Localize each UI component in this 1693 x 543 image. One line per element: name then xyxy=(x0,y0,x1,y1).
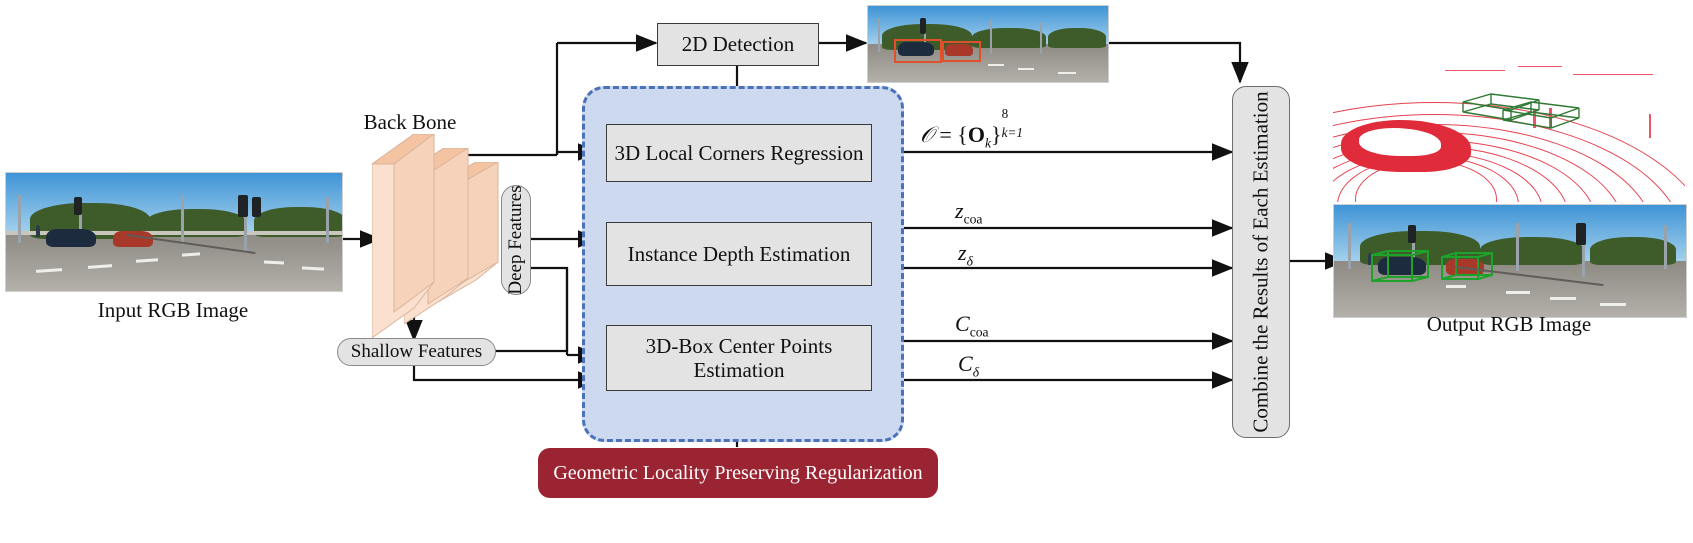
node-3d-box-center-points-estimation[interactable]: 3D-Box Center Points Estimation xyxy=(606,325,872,391)
lane-dash-1 xyxy=(1506,291,1530,294)
node-geometric-locality-preserving-regularization[interactable]: Geometric Locality Preserving Regulariza… xyxy=(538,448,938,498)
edge-label-c-delta: Cδ xyxy=(958,351,979,380)
traffic-light-right-2 xyxy=(252,197,261,217)
pole-1 xyxy=(878,18,880,52)
shallow-features-label: Shallow Features xyxy=(351,341,482,363)
node-combine-results[interactable]: Combine the Results of Each Estimation xyxy=(1232,86,1290,438)
car-red xyxy=(113,231,153,247)
node-regularization-label: Geometric Locality Preserving Regulariza… xyxy=(553,462,922,485)
traffic-light-right xyxy=(238,195,248,217)
treeline-right xyxy=(1048,28,1106,48)
pole-4 xyxy=(1040,22,1042,54)
edge-label-z-coa-sub: coa xyxy=(964,211,983,226)
edge-label-c-coa-var: C xyxy=(955,311,970,336)
car-dark xyxy=(46,229,96,247)
edge-label-corners-eq: = { xyxy=(939,122,967,147)
treeline-mid xyxy=(972,28,1046,48)
pole-3 xyxy=(990,20,992,54)
pole-3 xyxy=(1516,223,1519,271)
output-image-caption: Output RGB Image xyxy=(1333,312,1685,337)
node-instance-depth-estimation[interactable]: Instance Depth Estimation xyxy=(606,222,872,286)
deep-features-pill: Deep Features xyxy=(501,185,531,295)
lane-dash-3 xyxy=(1600,303,1626,306)
node-2d-detection-label: 2D Detection xyxy=(682,32,795,56)
edge-label-z-coa-var: z xyxy=(955,198,964,223)
edge-label-corners-script: 𝒪 xyxy=(920,123,934,148)
edge-label-c-coa-sub: coa xyxy=(970,324,989,339)
backbone-label: Back Bone xyxy=(330,110,490,135)
edge-label-corners-close: } xyxy=(991,122,1002,147)
edge-label-corners-limits: 8k=1 xyxy=(1002,123,1023,146)
node-3d-box-center-points-estimation-label: 3D-Box Center Points Estimation xyxy=(607,334,871,382)
pole-1 xyxy=(18,195,21,243)
detection-2d-thumbnail xyxy=(867,5,1109,83)
edge-label-c-delta-var: C xyxy=(958,351,973,376)
input-image-caption: Input RGB Image xyxy=(5,298,341,323)
deep-features-label: Deep Features xyxy=(505,185,527,294)
lane-dash-1 xyxy=(988,64,1004,66)
lane-dash-2 xyxy=(1550,297,1576,300)
traffic-light-left xyxy=(74,197,82,215)
node-combine-results-label: Combine the Results of Each Estimation xyxy=(1249,91,1274,432)
lidar-speck-3 xyxy=(1573,74,1653,75)
traffic-light-right xyxy=(1576,223,1586,245)
traffic-light-left xyxy=(1408,225,1416,243)
lane-dash-3 xyxy=(1058,72,1076,74)
node-instance-depth-estimation-label: Instance Depth Estimation xyxy=(628,242,851,266)
edge-label-z-delta: zδ xyxy=(958,240,973,269)
output-rgb-image xyxy=(1333,204,1687,318)
lidar-point-cloud xyxy=(1333,62,1685,202)
traffic-light xyxy=(920,18,926,34)
bbox-3d-car-red xyxy=(1440,251,1506,281)
lane-dash-4 xyxy=(1446,285,1466,288)
edge-label-z-coa: zcoa xyxy=(955,198,982,227)
lidar-pole-3 xyxy=(1649,114,1651,138)
node-3d-local-corners-regression[interactable]: 3D Local Corners Regression xyxy=(606,124,872,182)
figure-root: Input RGB Image Back Bone Deep Features … xyxy=(0,0,1693,543)
lane-dash-2 xyxy=(1018,68,1034,70)
bbox-2d-car-red xyxy=(942,41,981,62)
pole-5 xyxy=(1664,225,1667,269)
edge-label-c-delta-sub: δ xyxy=(973,364,979,379)
node-2d-detection[interactable]: 2D Detection xyxy=(657,23,819,66)
pole-5 xyxy=(326,197,329,243)
edge-label-corners-bold: O xyxy=(968,122,985,147)
shallow-features-pill: Shallow Features xyxy=(337,338,496,366)
pole-3 xyxy=(181,195,184,245)
pole-1 xyxy=(1348,223,1351,269)
edge-label-z-delta-sub: δ xyxy=(967,253,973,268)
lidar-speck-2 xyxy=(1518,66,1562,67)
backbone-slab-1 xyxy=(372,134,436,338)
pedestrian xyxy=(36,225,40,237)
node-3d-local-corners-regression-label: 3D Local Corners Regression xyxy=(614,141,863,165)
bbox-2d-car-dark xyxy=(894,39,942,63)
input-rgb-image xyxy=(5,172,343,292)
lidar-speck-1 xyxy=(1445,70,1505,71)
lidar-bbox-car-2 xyxy=(1501,100,1581,130)
edge-label-corners: 𝒪 = {Ok}8k=1 xyxy=(920,122,1023,151)
edge-label-c-coa: Ccoa xyxy=(955,311,989,340)
edge-label-z-delta-var: z xyxy=(958,240,967,265)
bbox-3d-car-dark xyxy=(1370,249,1446,283)
